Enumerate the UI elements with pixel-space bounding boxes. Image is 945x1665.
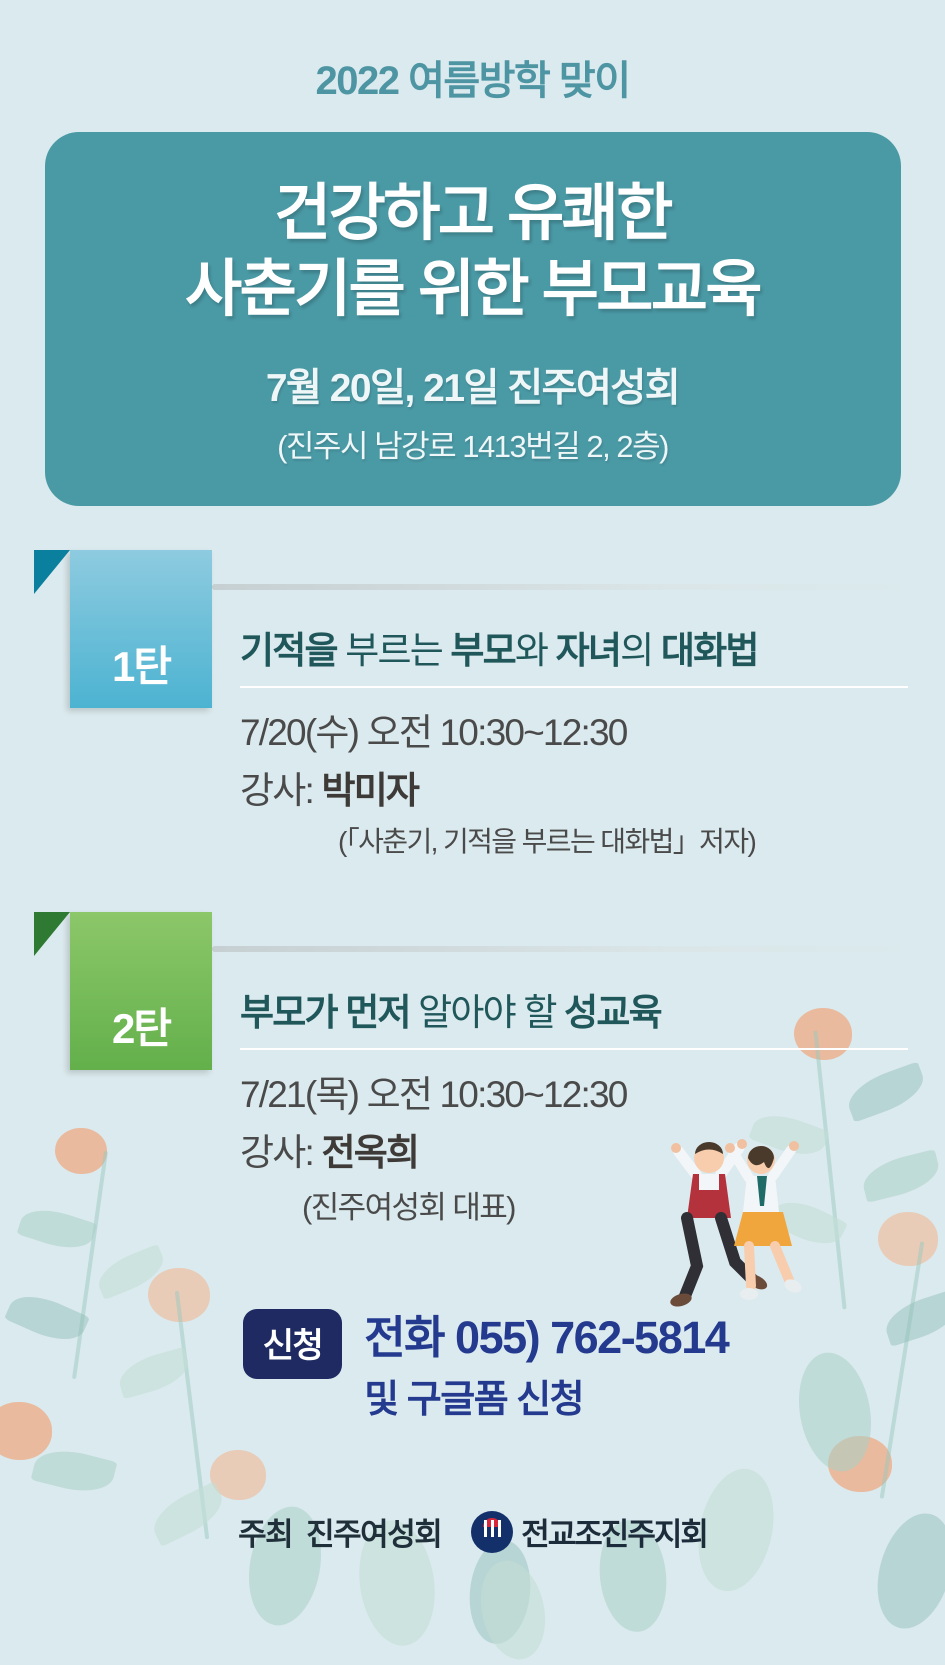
session-lecturer-1: 강사: 박미자 <box>240 760 925 814</box>
host-label: 주최 <box>238 1517 292 1552</box>
emblem-stripe <box>484 1520 487 1537</box>
session-body-2: 부모가 먼저 알아야 할 성교육 7/21(목) 오전 10:30~12:30 … <box>240 912 945 1227</box>
lecturer-name: 박미자 <box>321 770 418 811</box>
session-title-seg: 의 <box>620 630 661 671</box>
union-emblem-icon <box>471 1511 513 1553</box>
emblem-stripe <box>491 1520 494 1537</box>
session-title-seg: 먼저 <box>345 992 409 1033</box>
session-block-1: 1탄 기적을 부르는 부모와 자녀의 대화법 7/20(수) 오전 10:30~… <box>0 550 945 860</box>
session-title-seg: 부르는 <box>337 630 451 671</box>
session-badge-1: 1탄 <box>70 550 212 708</box>
girl-figure <box>725 1141 804 1300</box>
poster-kicker: 2022 여름방학 맞이 <box>0 0 945 106</box>
note-text: 「사춘기, 기적을 부르는 대화법」저자 <box>346 826 748 857</box>
hero-title-line-1: 건강하고 유쾌한 <box>75 176 871 252</box>
ribbon-fold-icon <box>34 550 70 594</box>
session-divider <box>240 686 908 688</box>
apply-lines: 전화 055) 762-5814 및 구글폼 신청 <box>364 1301 728 1423</box>
ribbon-fold-icon <box>34 912 70 956</box>
hero-title-line-2: 사춘기를 위한 부모교육 <box>75 252 871 328</box>
session-title-2: 부모가 먼저 알아야 할 성교육 <box>240 982 925 1036</box>
session-title-seg: 기적을 <box>240 630 337 671</box>
lecturer-label: 강사: <box>240 770 313 811</box>
session-datetime-2: 7/21(목) 오전 10:30~12:30 <box>240 1064 925 1118</box>
session-title-seg: 알아야 할 <box>410 992 564 1033</box>
session-title-seg <box>337 992 345 1033</box>
hero-date-venue: 7월 20일, 21일 진주여성회 <box>75 357 871 413</box>
session-datetime-1: 7/20(수) 오전 10:30~12:30 <box>240 702 925 756</box>
lecturer-label: 강사: <box>240 1132 313 1173</box>
session-top-rule <box>212 584 925 590</box>
note-open-paren: ( <box>338 826 346 857</box>
emblem-stripe <box>498 1520 501 1537</box>
jumping-people-illustration <box>643 1118 833 1318</box>
session-title-seg: 부모가 <box>240 992 337 1033</box>
session-title-1: 기적을 부르는 부모와 자녀의 대화법 <box>240 620 925 674</box>
session-note-1: (「사춘기, 기적을 부르는 대화법」저자) <box>240 820 925 860</box>
session-title-seg: 와 <box>515 630 556 671</box>
footer-host: 주최진주여성회 <box>238 1509 441 1554</box>
org-logo: 전교조진주지회 <box>471 1509 707 1554</box>
session-badge-2: 2탄 <box>70 912 212 1070</box>
poster-root: 2022 여름방학 맞이 건강하고 유쾌한 사춘기를 위한 부모교육 7월 20… <box>0 0 945 1654</box>
session-badge-label: 1탄 <box>112 633 170 694</box>
session-badge-label: 2탄 <box>112 995 170 1056</box>
apply-block: 신청 전화 055) 762-5814 및 구글폼 신청 <box>0 1301 945 1423</box>
apply-subtext: 및 구글폼 신청 <box>364 1368 728 1423</box>
session-body-1: 기적을 부르는 부모와 자녀의 대화법 7/20(수) 오전 10:30~12:… <box>240 550 945 860</box>
session-top-rule <box>212 946 925 952</box>
apply-phone[interactable]: 전화 055) 762-5814 <box>364 1301 728 1366</box>
session-title-seg: 자녀 <box>556 630 620 671</box>
hero-title: 건강하고 유쾌한 사춘기를 위한 부모교육 <box>75 176 871 327</box>
lecturer-name: 전옥희 <box>321 1132 418 1173</box>
apply-badge: 신청 <box>243 1309 343 1379</box>
hero-card: 건강하고 유쾌한 사춘기를 위한 부모교육 7월 20일, 21일 진주여성회 … <box>45 132 901 506</box>
hero-address: (진주시 남강로 1413번길 2, 2층) <box>75 421 871 466</box>
session-title-seg: 부모 <box>450 630 514 671</box>
session-divider <box>240 1048 908 1050</box>
footer-block: 주최진주여성회 전교조진주지회 <box>0 1509 945 1554</box>
session-title-seg: 대화법 <box>661 630 758 671</box>
org-name: 전교조진주지회 <box>521 1509 707 1554</box>
note-close-paren: ) <box>748 826 756 857</box>
host-name: 진주여성회 <box>306 1517 441 1552</box>
session-title-seg: 성교육 <box>564 992 661 1033</box>
